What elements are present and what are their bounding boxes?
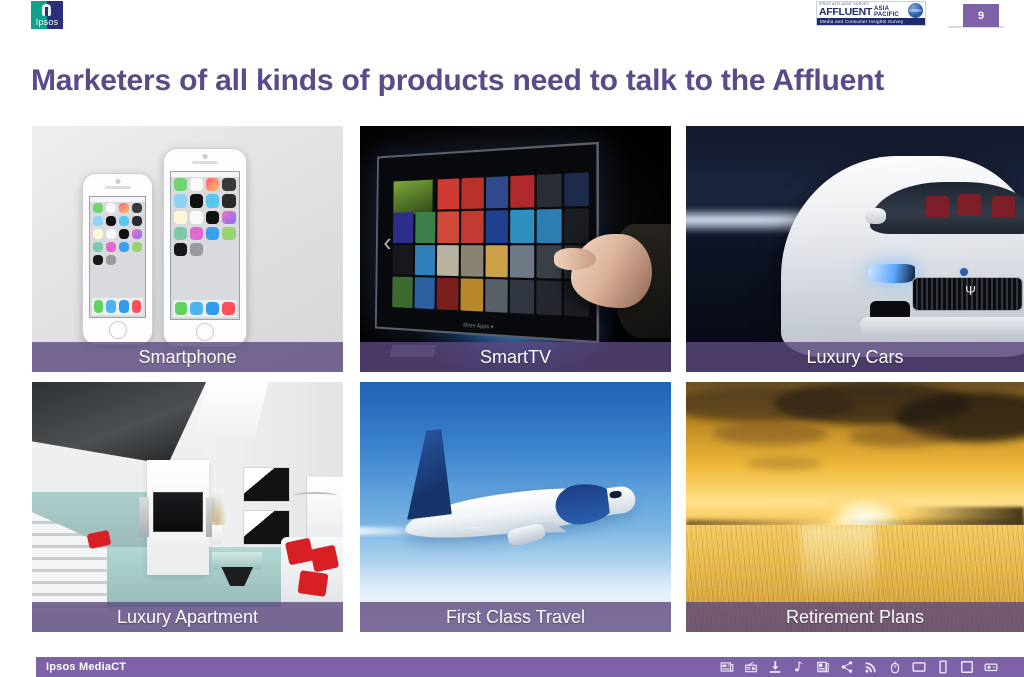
rss-icon — [864, 660, 878, 674]
tile-caption-smarttv: SmartTV — [360, 342, 671, 372]
tile-smartphone[interactable]: Smartphone — [32, 126, 343, 372]
affluent-survey-logo: IPSOS AFFLUENT SURVEY AFFLUENT ASIA PACI… — [816, 1, 926, 26]
affluent-word: AFFLUENT — [819, 7, 872, 18]
share-icon — [840, 660, 854, 674]
affluent-region: ASIA PACIFIC — [874, 6, 899, 18]
tile-first-class-travel[interactable]: First Class Travel — [360, 382, 671, 632]
trident-emblem-icon: Ψ — [963, 283, 979, 299]
affluent-logo-top: IPSOS AFFLUENT SURVEY AFFLUENT ASIA PACI… — [817, 2, 925, 18]
luxury-apartment-image — [32, 382, 343, 632]
footer-brand: Ipsos MediaCT — [46, 661, 126, 673]
affluent-region-line2: PACIFIC — [874, 12, 899, 18]
monitor-icon — [912, 660, 926, 674]
mobile-phone-icon — [936, 660, 950, 674]
mouse-icon — [888, 660, 902, 674]
sunset-field-image — [686, 382, 1024, 632]
chevron-left-icon: ‹ — [383, 228, 392, 254]
download-icon — [768, 660, 782, 674]
tile-caption-luxury-cars: Luxury Cars — [686, 342, 1024, 372]
ipsos-wordmark: Ipsos — [31, 17, 63, 27]
tile-caption-smartphone: Smartphone — [32, 342, 343, 372]
tile-caption-retirement-plans: Retirement Plans — [686, 602, 1024, 632]
phone-small — [82, 173, 154, 345]
globe-icon — [908, 3, 923, 18]
footer-icon-row — [720, 660, 998, 674]
hand-icon — [571, 234, 652, 308]
tablet-icon — [960, 660, 974, 674]
magazine-icon — [816, 660, 830, 674]
luxury-car-image: Ψ — [686, 126, 1024, 372]
page-title: Marketers of all kinds of products need … — [31, 64, 1011, 98]
logo-mark-icon — [42, 4, 51, 16]
tile-luxury-cars[interactable]: Ψ Luxury Cars — [686, 126, 1024, 372]
airplane-image — [360, 382, 671, 632]
tile-caption-luxury-apartment: Luxury Apartment — [32, 602, 343, 632]
ipsos-logo: Ipsos — [31, 1, 63, 29]
affluent-tagline: Media and Consumer Insights Survey — [817, 18, 925, 25]
footer-bar: Ipsos MediaCT — [36, 657, 1024, 677]
smartphone-image — [32, 126, 343, 372]
slide: Ipsos IPSOS AFFLUENT SURVEY AFFLUENT ASI… — [0, 0, 1024, 677]
tile-caption-first-class-travel: First Class Travel — [360, 602, 671, 632]
music-note-icon — [792, 660, 806, 674]
page-number-badge: 9 — [963, 4, 999, 27]
tile-luxury-apartment[interactable]: Luxury Apartment — [32, 382, 343, 632]
radio-icon — [744, 660, 758, 674]
affluent-logo-left: IPSOS AFFLUENT SURVEY AFFLUENT — [819, 3, 872, 18]
phone-large — [163, 148, 247, 347]
tile-retirement-plans[interactable]: Retirement Plans — [686, 382, 1024, 632]
newspaper-icon — [720, 660, 734, 674]
tile-smarttv[interactable]: ‹ More Apps ▾ SmartTV — [360, 126, 671, 372]
smarttv-image: ‹ More Apps ▾ — [360, 126, 671, 372]
handheld-device-icon — [984, 660, 998, 674]
tv-screen: ‹ More Apps ▾ — [374, 141, 599, 343]
product-tile-grid: Smartphone — [32, 126, 1024, 632]
